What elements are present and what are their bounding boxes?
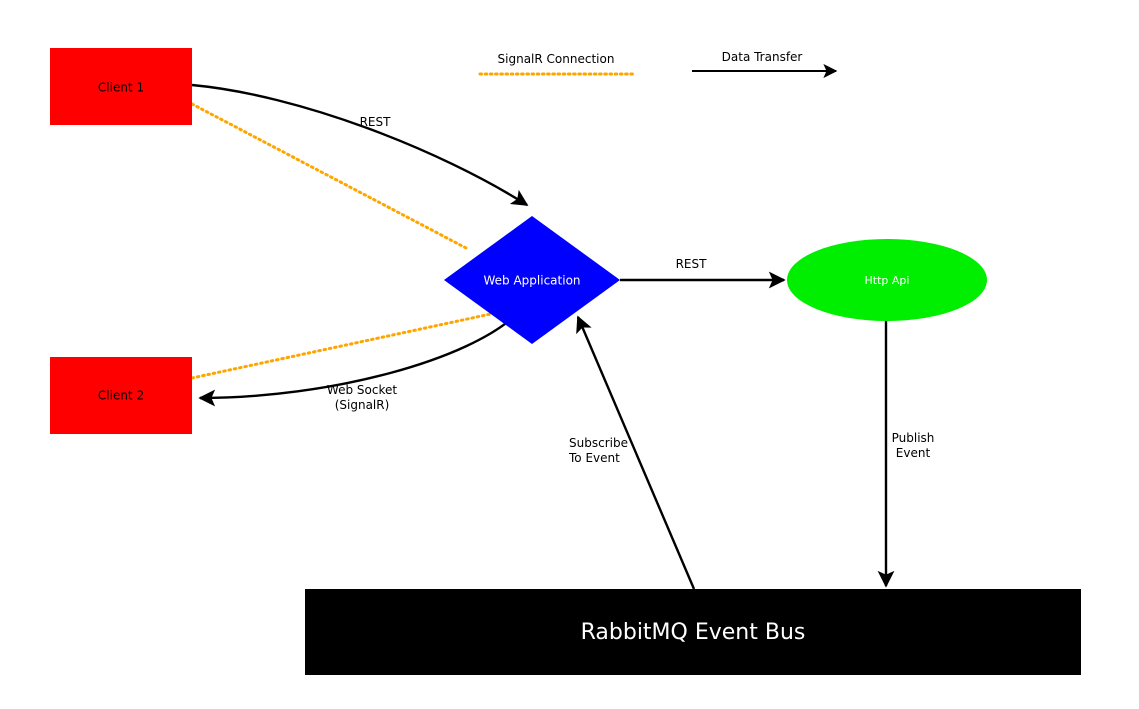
node-label-client-2: Client 2 <box>98 389 144 403</box>
node-label-web-application: Web Application <box>483 274 580 288</box>
edge-label-websocket-line2: (SignalR) <box>335 398 390 412</box>
edge-client2-signalr-connection <box>192 312 500 378</box>
edge-webapp-to-httpapi-rest: REST <box>620 257 784 280</box>
architecture-diagram: SignalR Connection Data Transfer REST <box>0 0 1139 709</box>
node-client-1[interactable]: Client 1 <box>50 48 192 125</box>
edge-label-publish-event-line2: Event <box>896 446 931 460</box>
legend: SignalR Connection Data Transfer <box>480 50 836 74</box>
node-web-application[interactable]: Web Application <box>444 216 620 344</box>
edge-label-subscribe-event-line2: To Event <box>568 451 620 465</box>
nodes: Client 1 Client 2 Web Application Http A… <box>50 48 1081 675</box>
edge-label-subscribe-event-line1: Subscribe <box>569 436 628 450</box>
node-http-api[interactable]: Http Api <box>787 239 987 321</box>
node-rabbitmq-event-bus[interactable]: RabbitMQ Event Bus <box>305 589 1081 675</box>
node-client-2[interactable]: Client 2 <box>50 357 192 434</box>
node-label-http-api: Http Api <box>865 274 910 287</box>
edge-client1-to-webapp-rest: REST <box>192 85 527 205</box>
edge-label-httpapi-rest: REST <box>676 257 708 271</box>
edges: REST Web Socket (SignalR) REST Publish <box>192 85 934 589</box>
node-label-client-1: Client 1 <box>98 81 144 95</box>
node-label-rabbitmq-event-bus: RabbitMQ Event Bus <box>581 620 806 645</box>
legend-item-data-transfer: Data Transfer <box>692 50 836 71</box>
edge-label-client1-rest: REST <box>360 115 392 129</box>
edge-eventbus-to-webapp-subscribe: Subscribe To Event <box>568 317 694 589</box>
edge-line-client1-rest <box>192 85 527 205</box>
edge-label-publish-event-line1: Publish <box>892 431 935 445</box>
edge-httpapi-to-eventbus-publish: Publish Event <box>886 320 934 586</box>
diagram-canvas: SignalR Connection Data Transfer REST <box>0 0 1139 709</box>
edge-webapp-to-client2-websocket: Web Socket (SignalR) <box>200 313 518 412</box>
edge-label-websocket-line1: Web Socket <box>327 383 397 397</box>
legend-label-signalr-connection: SignalR Connection <box>498 52 615 66</box>
legend-item-signalr-connection: SignalR Connection <box>480 52 635 74</box>
legend-label-data-transfer: Data Transfer <box>722 50 803 64</box>
edge-client1-signalr-connection <box>192 104 466 248</box>
